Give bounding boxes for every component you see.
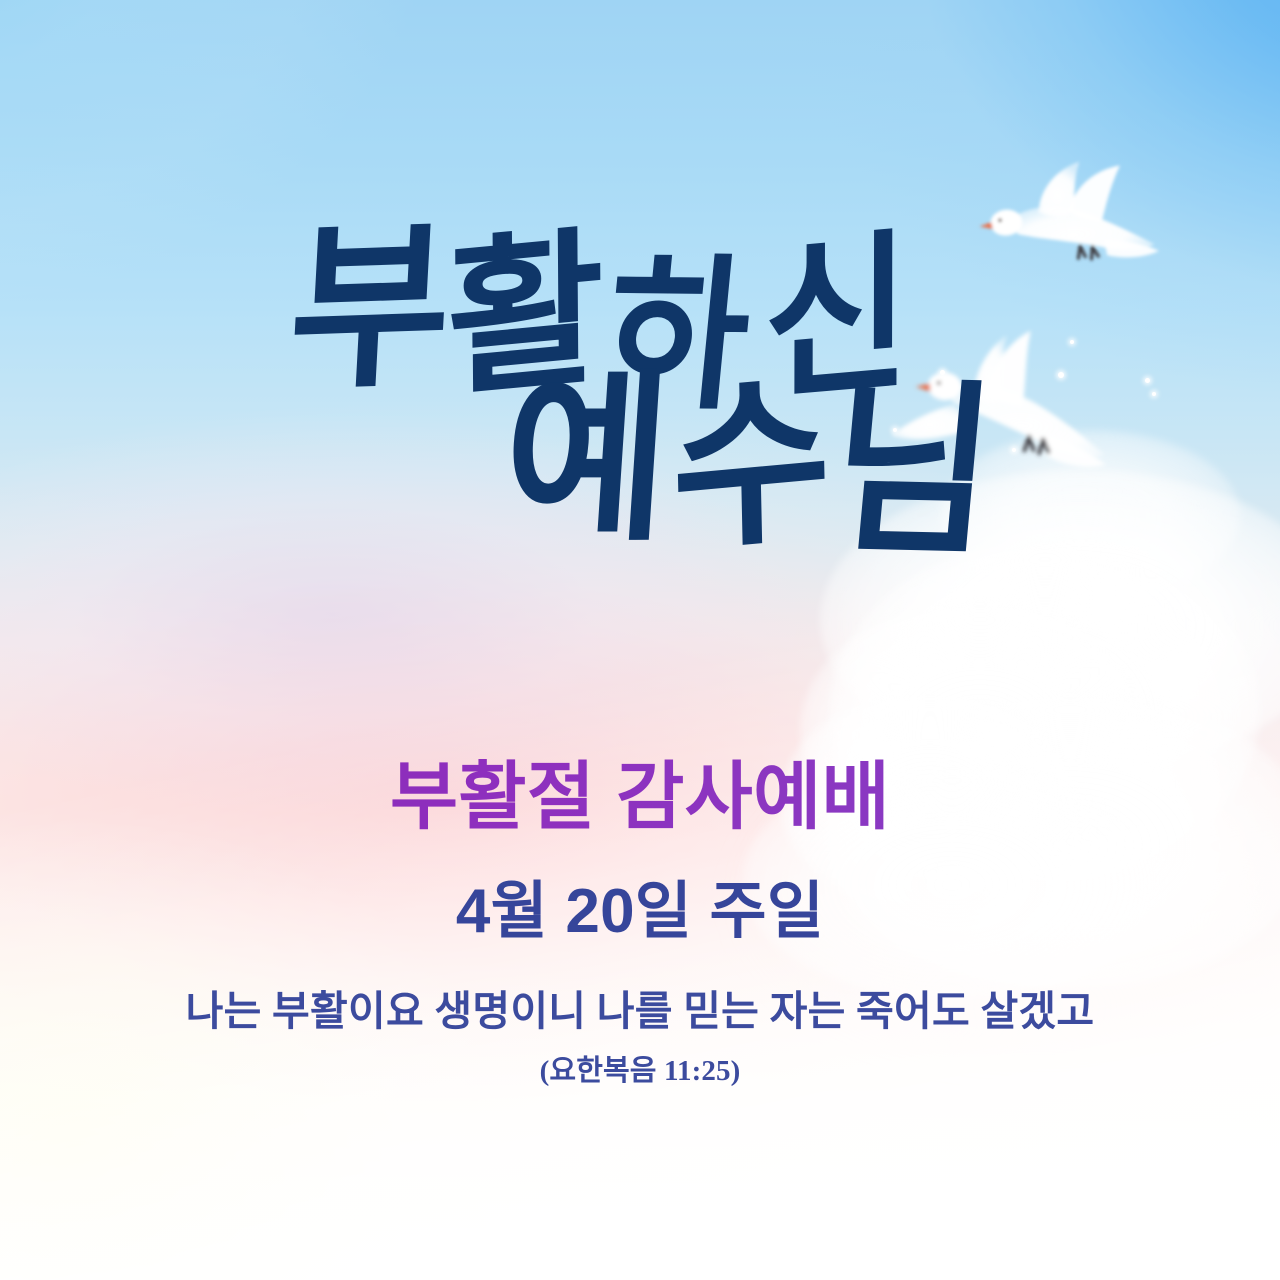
event-headline: 부활절 감사예배 [0, 757, 1280, 837]
calligraphy-char: 신 [764, 226, 913, 410]
brush-calligraphy-title: 부활하신 예수님 [0, 222, 1280, 540]
calligraphy-char: 수 [670, 369, 834, 563]
calligraphy-char: 활 [446, 223, 606, 406]
calligraphy-char: 님 [823, 377, 1003, 566]
calligraphy-char: 부 [285, 216, 457, 400]
poster-content: 부활하신 예수님 부활절 감사예배 4월 20일 주일 나는 부활이요 생명이니… [0, 0, 1280, 1280]
scripture-reference: (요한복음 11:25) [0, 1047, 1280, 1089]
calligraphy-line-2: 예수님 [110, 339, 1280, 564]
calligraphy-line-1: 부활하신 [0, 184, 1245, 428]
easter-poster: 부활하신 예수님 부활절 감사예배 4월 20일 주일 나는 부활이요 생명이니… [0, 0, 1280, 1280]
calligraphy-char: 예 [499, 368, 678, 552]
event-date: 4월 20일 주일 [0, 878, 1280, 946]
scripture-verse: 나는 부활이요 생명이니 나를 믿는 자는 죽어도 살겠고 [0, 988, 1280, 1036]
calligraphy-char: 하 [599, 252, 758, 419]
